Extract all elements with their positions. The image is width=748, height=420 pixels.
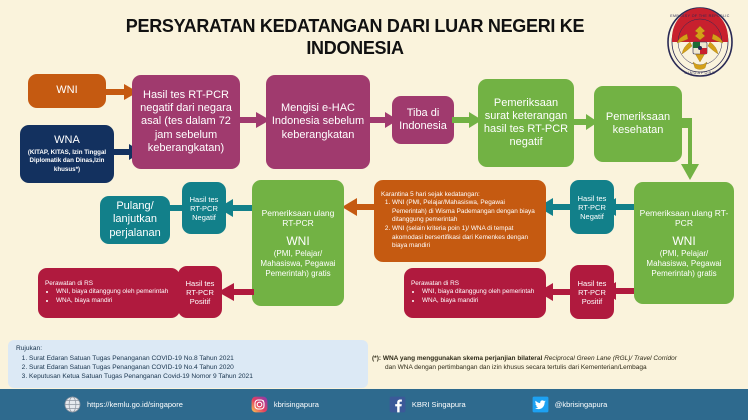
list-item: Surat Edaran Satuan Tugas Penanganan COV… (29, 354, 360, 363)
box-ehac-label: Mengisi e-HAC Indonesia sebelum keberang… (271, 102, 365, 142)
arrow-retest-mid-to-pos (218, 283, 254, 301)
globe-icon (64, 396, 81, 413)
arrow-health-down-to-retest (674, 118, 712, 184)
box-rtpcr-origin-label: Hasil tes RT-PCR negatif dari negara asa… (137, 89, 235, 155)
embassy-seal-icon: EMBASSY OF THE REPUBLIC SINGAPORE (657, 6, 743, 78)
list-item: Keputusan Ketua Satuan Tugas Penanganan … (29, 372, 360, 381)
box-retest-mid-line2: WNI (257, 234, 339, 248)
box-hospital-left-header: Perawatan di RS (45, 280, 173, 288)
box-check-letter: Pemeriksaan surat keterangan hasil tes R… (478, 79, 574, 167)
box-retest-right-line1: Pemeriksaan ulang RT-PCR (639, 208, 729, 228)
box-hospital-left: Perawatan di RS WNI, biaya ditanggung ol… (38, 268, 180, 318)
social-twitter-label: @kbrisingapura (555, 400, 608, 409)
svg-text:SINGAPORE: SINGAPORE (684, 71, 716, 75)
box-pos-right-label: Hasil tes RT-PCR Positif (575, 279, 609, 306)
list-item: WNI, biaya ditanggung oleh pemerintah (422, 288, 539, 296)
box-pos-mid: Hasil tes RT-PCR Positif (178, 266, 222, 318)
references-panel: Rujukan: Surat Edaran Satuan Tugas Penan… (8, 340, 368, 388)
list-item: WNA, biaya mandiri (422, 297, 539, 305)
references-list: Surat Edaran Satuan Tugas Penanganan COV… (29, 354, 360, 382)
facebook-icon (389, 396, 406, 413)
box-quarantine-list: WNI (PMI, Pelajar/Mahasiswa, Pegawai Pem… (392, 199, 539, 250)
social-instagram-label: kbrisingapura (274, 400, 319, 409)
instagram-icon (251, 396, 268, 413)
list-item: Surat Edaran Satuan Tugas Penanganan COV… (29, 363, 360, 372)
social-twitter[interactable]: @kbrisingapura (532, 396, 608, 413)
box-quarantine-header: Karantina 5 hari sejak kedatangan: (381, 191, 539, 199)
box-wna: WNA (KITAP, KITAS, Izin Tinggal Diplomat… (20, 125, 114, 183)
box-hospital-right-list: WNI, biaya ditanggung oleh pemerintah WN… (422, 288, 539, 305)
box-retest-right-line2: WNI (639, 234, 729, 248)
box-hospital-right-header: Perawatan di RS (411, 280, 539, 288)
box-pos-mid-label: Hasil tes RT-PCR Positif (183, 279, 217, 306)
social-bar: https://kemlu.go.id/singapore kbrisingap… (0, 389, 748, 420)
social-facebook[interactable]: KBRI Singapura (389, 396, 466, 413)
social-website[interactable]: https://kemlu.go.id/singapore (64, 396, 183, 413)
box-wni-label: WNI (33, 84, 101, 97)
box-arrive: Tiba di Indonesia (392, 96, 454, 144)
box-go-home: Pulang/ lanjutkan perjalanan (100, 196, 170, 244)
social-facebook-label: KBRI Singapura (412, 400, 466, 409)
list-item: WNA, biaya mandiri (56, 297, 173, 305)
list-item: WNI, biaya ditanggung oleh pemerintah (56, 288, 173, 296)
box-go-home-label: Pulang/ lanjutkan perjalanan (105, 200, 165, 240)
box-hospital-right: Perawatan di RS WNI, biaya ditanggung ol… (404, 268, 546, 318)
social-instagram[interactable]: kbrisingapura (251, 396, 319, 413)
box-arrive-label: Tiba di Indonesia (397, 107, 449, 133)
box-retest-mid: Pemeriksaan ulang RT-PCR WNI (PMI, Pelaj… (252, 180, 344, 306)
twitter-icon (532, 396, 549, 413)
footnote-asterisk: (*): WNA yang menggunakan skema perjanji… (372, 354, 744, 373)
box-retest-right-line3: (PMI, Pelajar/ Mahasiswa, Pegawai Pemeri… (639, 249, 729, 278)
references-header: Rujukan: (16, 345, 360, 352)
box-neg-mid-label: Hasil tes RT-PCR Negatif (187, 195, 221, 222)
box-wni: WNI (28, 74, 106, 108)
box-hospital-left-list: WNI, biaya ditanggung oleh pemerintah WN… (56, 288, 173, 305)
svg-text:EMBASSY OF THE REPUBLIC: EMBASSY OF THE REPUBLIC (670, 14, 730, 18)
social-website-label: https://kemlu.go.id/singapore (87, 400, 183, 409)
box-rtpcr-origin: Hasil tes RT-PCR negatif dari negara asa… (132, 75, 240, 169)
box-retest-mid-line3: (PMI, Pelajar/ Mahasiswa, Pegawai Pemeri… (257, 249, 339, 278)
box-neg-mid: Hasil tes RT-PCR Negatif (182, 182, 226, 234)
box-pos-right: Hasil tes RT-PCR Positif (570, 265, 614, 319)
box-neg-right: Hasil tes RT-PCR Negatif (570, 180, 614, 234)
list-item: WNI (PMI, Pelajar/Mahasiswa, Pegawai Pem… (392, 199, 539, 224)
box-quarantine: Karantina 5 hari sejak kedatangan: WNI (… (374, 180, 546, 262)
box-retest-right: Pemeriksaan ulang RT-PCR WNI (PMI, Pelaj… (634, 182, 734, 304)
list-item: WNI (selain kriteria poin 1)/ WNA di tem… (392, 225, 539, 250)
box-check-letter-label: Pemeriksaan surat keterangan hasil tes R… (483, 97, 569, 150)
box-health-check: Pemeriksaan kesehatan (594, 86, 682, 162)
page-title: PERSYARATAN KEDATANGAN DARI LUAR NEGERI … (95, 16, 615, 60)
footnote-line1-italic: Reciprocal Green Lane (RGL)/ Travel Corr… (544, 355, 677, 362)
box-health-check-label: Pemeriksaan kesehatan (599, 111, 677, 137)
footnote-line1-prefix: (*): WNA yang menggunakan skema perjanji… (372, 355, 544, 362)
footnote-line2: dan WNA dengan pertimbangan dan izin khu… (372, 363, 744, 372)
box-wna-subtitle: (KITAP, KITAS, Izin Tinggal Diplomatik d… (25, 149, 109, 174)
box-retest-mid-line1: Pemeriksaan ulang RT-PCR (257, 208, 339, 228)
box-wna-title: WNA (25, 134, 109, 147)
infographic-root: PERSYARATAN KEDATANGAN DARI LUAR NEGERI … (0, 0, 748, 420)
box-ehac: Mengisi e-HAC Indonesia sebelum keberang… (266, 75, 370, 169)
box-neg-right-label: Hasil tes RT-PCR Negatif (575, 194, 609, 221)
arrow-quarantine-to-retest-mid (342, 198, 376, 216)
